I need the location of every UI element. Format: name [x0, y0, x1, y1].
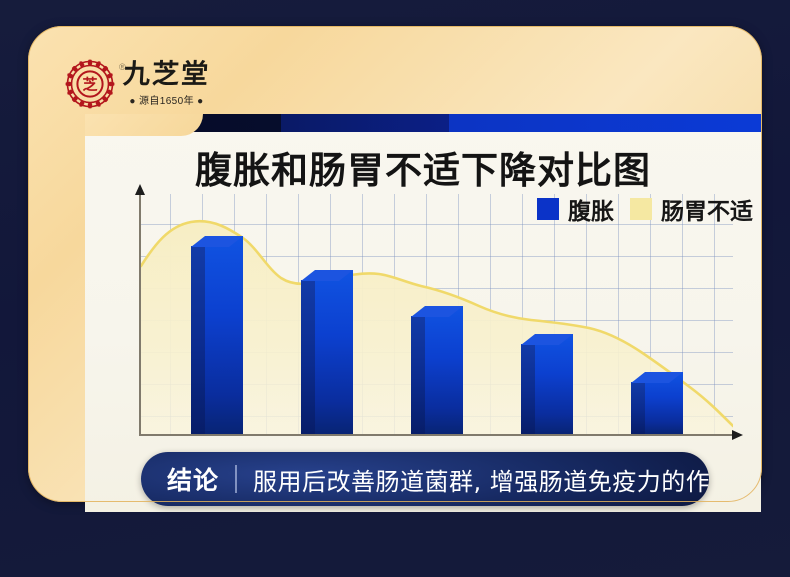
seal-flower-zhi-icon: 芝 — [64, 58, 116, 110]
strip-segment-3 — [449, 114, 761, 132]
content-panel: 腹胀和肠胃不适下降对比图 腹胀 肠胃不适 — [85, 114, 761, 512]
conclusion-text: 服用后改善肠道菌群, 增强肠道免疫力的作用 — [237, 462, 709, 497]
conclusion-banner: 结论 服用后改善肠道菌群, 增强肠道免疫力的作用 — [141, 452, 709, 506]
legend-label-discomfort: 肠胃不适 — [661, 192, 753, 226]
legend-label-bloating: 腹胀 — [568, 192, 614, 226]
bar-1 — [191, 236, 243, 434]
bar-5-front — [645, 372, 683, 434]
bar-2-top — [301, 270, 353, 281]
bar-4-front — [535, 334, 573, 434]
bar-5-top — [631, 372, 683, 383]
gold-frame: 芝 — [28, 26, 762, 502]
chart-gridlines — [139, 194, 733, 436]
chart-legend: 腹胀 肠胃不适 — [537, 192, 753, 226]
strip-segment-2 — [281, 114, 449, 132]
bar-4 — [521, 334, 573, 434]
svg-text:芝: 芝 — [82, 76, 97, 94]
bar-1-side — [191, 246, 205, 434]
bar-4-side — [521, 344, 535, 434]
bar-3-side — [411, 316, 425, 434]
page-title: 腹胀和肠胃不适下降对比图 — [85, 140, 761, 194]
page-background: 芝 — [0, 0, 790, 577]
bar-5-side — [631, 382, 645, 434]
bar-1-front — [205, 236, 243, 434]
conclusion-label: 结论 — [141, 461, 235, 497]
area-series-stomach-discomfort — [139, 194, 733, 436]
chart: 腹胀 肠胃不适 — [85, 186, 761, 448]
bar-2 — [301, 270, 353, 434]
x-axis — [139, 434, 733, 436]
brand-name: 九芝堂 — [122, 61, 210, 89]
brand-logo: 芝 — [58, 50, 242, 118]
x-axis-arrow-icon — [732, 430, 743, 440]
bar-3-top — [411, 306, 463, 317]
bar-2-side — [301, 280, 315, 434]
bar-3-front — [425, 306, 463, 434]
blue-square-icon — [537, 198, 559, 220]
plot-area — [139, 194, 733, 436]
conclusion-divider — [235, 465, 237, 493]
bar-2-front — [315, 270, 353, 434]
bar-1-top — [191, 236, 243, 247]
yellow-square-icon — [630, 198, 652, 220]
legend-item-bloating: 腹胀 — [537, 192, 614, 226]
brand-tagline: ● 源自1650年 ● — [129, 92, 203, 107]
bar-4-top — [521, 334, 573, 345]
legend-item-discomfort: 肠胃不适 — [630, 192, 753, 226]
bar-3 — [411, 306, 463, 434]
y-axis — [139, 194, 141, 436]
bar-5 — [631, 372, 683, 434]
